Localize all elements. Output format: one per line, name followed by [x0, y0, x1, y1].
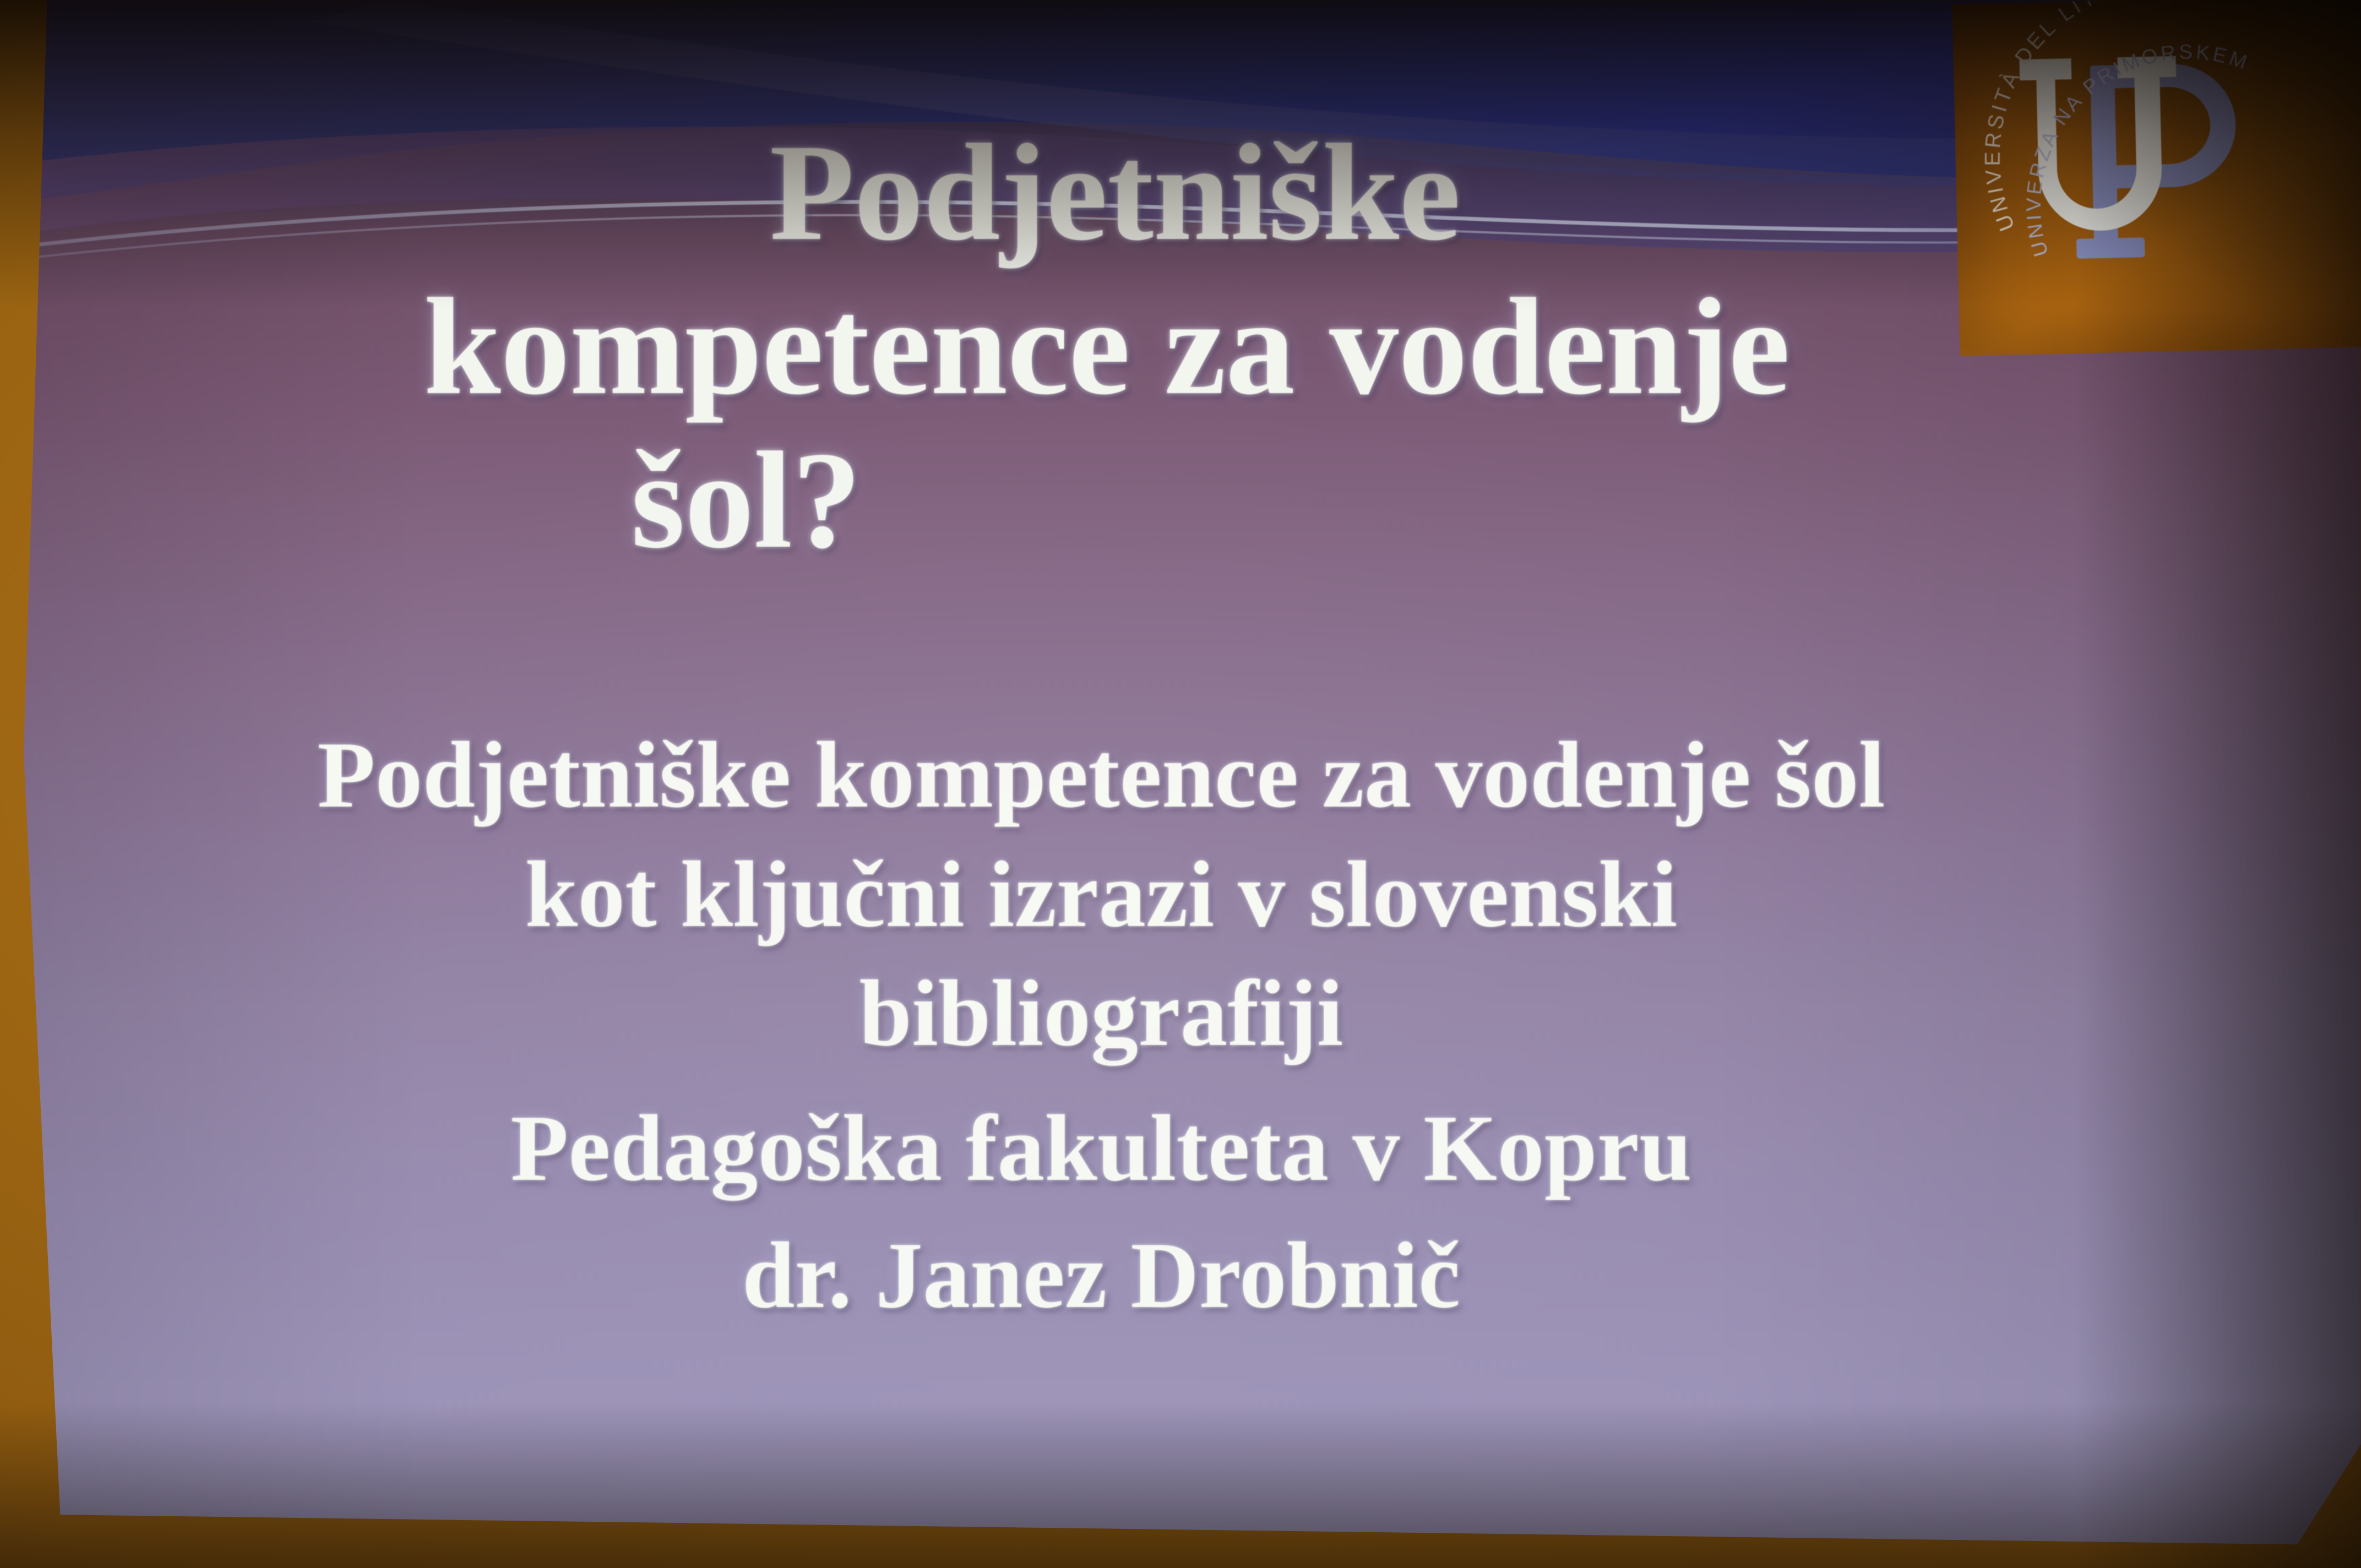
wall-shadow-top [0, 0, 2361, 308]
wall-shadow-right [2075, 0, 2361, 1568]
projection-scene: Podjetniške kompetence za vodenje šol? P… [0, 0, 2361, 1568]
wall-shadow-bottom [0, 1403, 2361, 1568]
